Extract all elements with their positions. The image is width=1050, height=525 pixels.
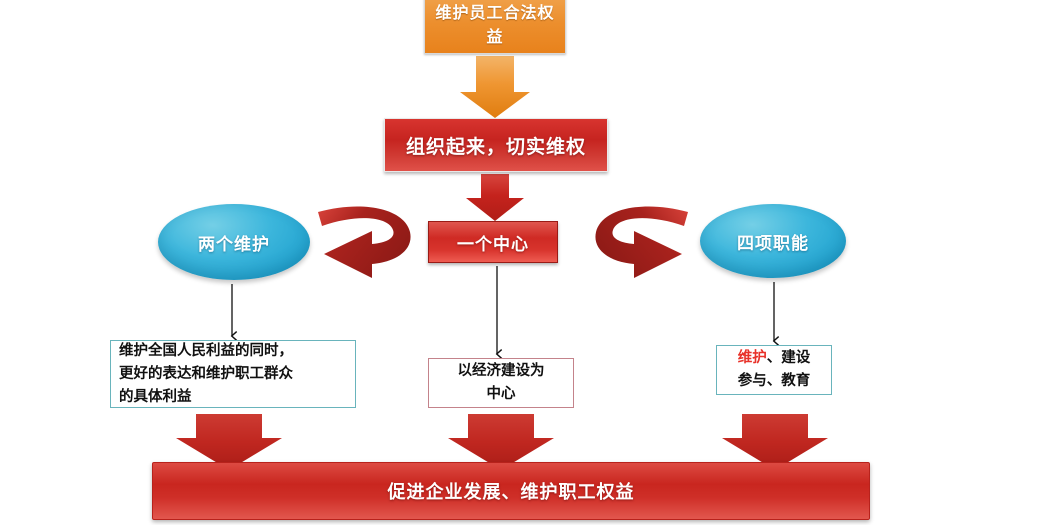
node-four-functions: 四项职能	[700, 204, 846, 278]
title-box: 维护员工合法权益	[424, 0, 566, 54]
detail-box-left-line2: 更好的表达和维护职工群众	[119, 363, 293, 386]
detail-box-center: 以经济建设为 中心	[428, 358, 574, 408]
detail-box-right-line1: 维护、建设	[738, 347, 811, 370]
detail-box-left-line3: 的具体利益	[119, 386, 293, 409]
title-box-label: 维护员工合法权益	[431, 1, 559, 49]
detail-box-center-line1: 以经济建设为	[458, 360, 545, 383]
detail-box-right: 维护、建设 参与、教育	[716, 345, 832, 395]
strategy-banner-label: 组织起来，切实维权	[406, 132, 586, 159]
footer-banner: 促进企业发展、维护职工权益	[152, 462, 870, 520]
node-two-protections-label: 两个维护	[198, 230, 270, 255]
detail-box-left: 维护全国人民利益的同时， 更好的表达和维护职工群众 的具体利益	[110, 340, 356, 408]
curved-arrow-right	[595, 206, 688, 278]
node-one-center-label: 一个中心	[457, 230, 529, 255]
detail-box-right-line2: 参与、教育	[738, 370, 811, 393]
node-one-center: 一个中心	[428, 221, 558, 263]
node-two-protections: 两个维护	[158, 204, 310, 280]
detail-box-center-line2: 中心	[458, 383, 545, 406]
orange-down-arrow	[460, 56, 530, 118]
node-four-functions-label: 四项职能	[737, 229, 809, 254]
diagram-canvas: 维护员工合法权益 组织起来，切实维权 两个维护 一个中心 四项职能 维护全国人民…	[0, 0, 1050, 525]
footer-banner-label: 促进企业发展、维护职工权益	[388, 478, 635, 504]
detail-box-left-line1: 维护全国人民利益的同时，	[119, 340, 293, 363]
strategy-banner: 组织起来，切实维权	[384, 118, 608, 172]
curved-arrow-left	[318, 206, 411, 278]
detail-box-right-highlight: 维护	[738, 350, 767, 366]
red-down-arrow	[466, 174, 524, 221]
detail-box-right-rest: 、建设	[767, 350, 811, 366]
